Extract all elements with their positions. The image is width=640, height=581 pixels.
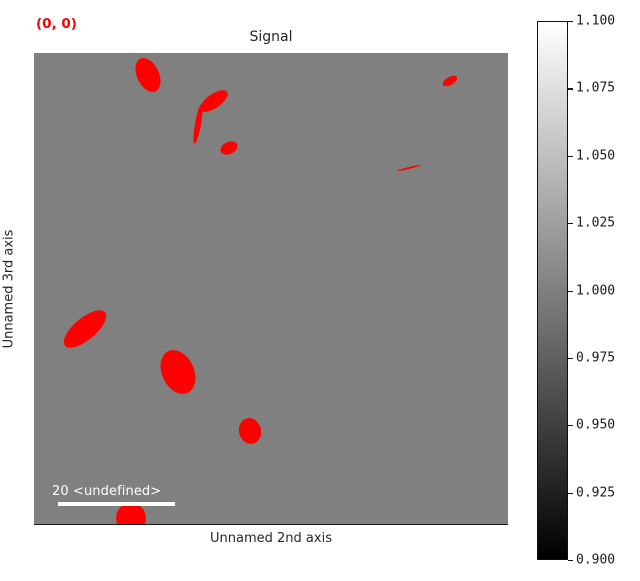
source-ellipse <box>154 344 202 399</box>
source-ellipse <box>130 54 165 96</box>
y-axis-label-text: Unnamed 3rd axis <box>2 229 17 348</box>
colorbar-tick-mark <box>568 358 573 359</box>
colorbar-tick-mark <box>568 291 573 292</box>
colorbar-tick-label: 0.975 <box>576 350 615 365</box>
colorbar-tick-mark <box>568 425 573 426</box>
source-ellipse <box>236 416 264 447</box>
colorbar-tick-label: 0.925 <box>576 485 615 500</box>
source-ellipse <box>397 164 421 172</box>
figure-canvas: (0, 0) Signal 20 <undefined> Unnamed 2nd… <box>0 0 640 581</box>
source-ellipse <box>192 104 205 144</box>
source-ellipse <box>58 304 112 354</box>
colorbar-tick-mark <box>568 21 573 22</box>
colorbar-tick-mark <box>568 223 573 224</box>
scalebar: 20 <undefined> <box>52 485 175 506</box>
colorbar-tick-mark <box>568 88 573 89</box>
colorbar-tick-label: 0.950 <box>576 418 615 433</box>
scalebar-label: 20 <undefined> <box>52 485 175 499</box>
colorbar-tick-mark <box>568 560 573 561</box>
colorbar-tick-mark <box>568 156 573 157</box>
colorbar[interactable]: 1.1001.0751.0501.0251.0000.9750.9500.925… <box>537 21 568 560</box>
source-ellipse <box>116 503 146 525</box>
colorbar-tick-label: 1.025 <box>576 216 615 231</box>
colorbar-tick-label: 0.900 <box>576 553 615 568</box>
colorbar-tick-label: 1.075 <box>576 81 615 96</box>
page-title: Signal <box>34 29 508 45</box>
image-plot-area[interactable]: 20 <undefined> <box>34 53 508 525</box>
scalebar-line <box>58 502 175 506</box>
colorbar-tick-mark <box>568 493 573 494</box>
x-axis-label: Unnamed 2nd axis <box>34 531 508 546</box>
colorbar-tick-label: 1.100 <box>576 14 615 29</box>
colorbar-tick-label: 1.050 <box>576 148 615 163</box>
y-axis-label: Unnamed 3rd axis <box>0 53 18 524</box>
source-ellipse <box>441 74 459 89</box>
source-ellipse <box>218 139 239 157</box>
colorbar-tick-label: 1.000 <box>576 283 615 298</box>
colorbar-gradient <box>537 21 568 560</box>
